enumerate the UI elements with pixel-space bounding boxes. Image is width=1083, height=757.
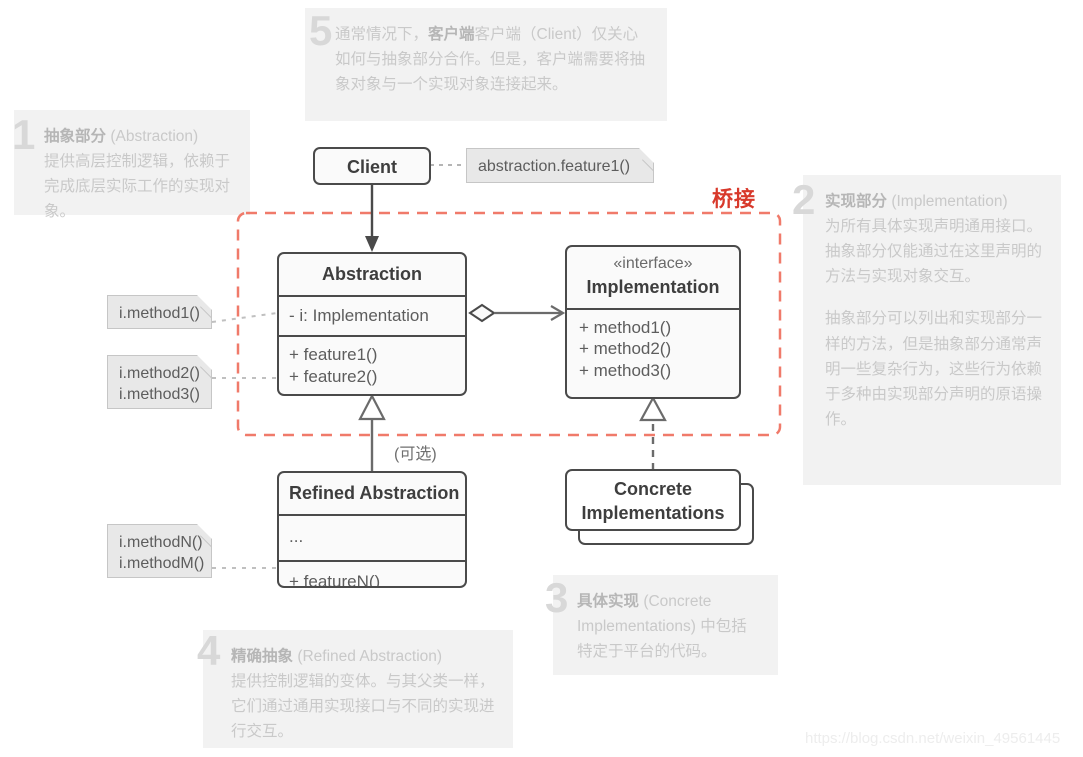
annotation-4-body: 提供控制逻辑的变体。与其父类一样，它们通过通用实现接口与不同的实现进行交互。 <box>231 673 495 740</box>
annotation-5-strong: 客户端 <box>428 26 475 43</box>
class-name-client: Client <box>315 149 429 185</box>
class-box-concrete-implementations[interactable]: Concrete Implementations <box>565 469 741 531</box>
annotation-text-4: 精确抽象 (Refined Abstraction) 提供控制逻辑的变体。与其父… <box>231 644 497 744</box>
realization-triangle-implementation <box>641 398 665 420</box>
annotation-1-body: 提供高层控制逻辑，依赖于完成底层实际工作的实现对象。 <box>44 153 230 220</box>
annotation-1-title-en: (Abstraction) <box>110 128 198 145</box>
annotation-panel-2: 2 实现部分 (Implementation) 为所有具体实现声明通用接口。抽象… <box>803 175 1061 485</box>
sticky-methodN-text: i.methodN() <box>119 532 200 553</box>
bridge-pattern-diagram: 5 通常情况下，客户端客户端（Client）仅关心如何与抽象部分合作。但是，客户… <box>0 0 1083 757</box>
annotation-text-2b: 抽象部分可以列出和实现部分一样的方法，但是抽象部分通常声明一些复杂行为，这些行为… <box>825 306 1045 432</box>
class-method-refined-0: + featureN() <box>279 560 465 588</box>
sticky-method3-text: i.method3() <box>119 384 200 405</box>
annotation-2-title-en: (Implementation) <box>891 193 1007 210</box>
watermark: https://blog.csdn.net/weixin_49561445 <box>805 730 1060 747</box>
class-name-concrete-line1: Concrete <box>567 471 739 501</box>
annotation-text-5: 通常情况下，客户端客户端（Client）仅关心如何与抽象部分合作。但是，客户端需… <box>335 22 651 97</box>
sticky-note-client-call: abstraction.feature1() <box>466 148 654 183</box>
annotation-number-4: 4 <box>197 630 220 672</box>
sticky-method1-text: i.method1() <box>119 305 200 322</box>
class-method-implementation-0: + method1() <box>579 317 729 339</box>
optional-label: (可选) <box>394 440 437 464</box>
annotation-text-1: 抽象部分 (Abstraction) 提供高层控制逻辑，依赖于完成底层实际工作的… <box>44 124 234 224</box>
annotation-panel-1: 1 抽象部分 (Abstraction) 提供高层控制逻辑，依赖于完成底层实际工… <box>14 110 250 215</box>
bridge-label: 桥接 <box>712 183 756 213</box>
class-method-implementation-2: + method3() <box>579 360 729 382</box>
annotation-text-3: 具体实现 (Concrete Implementations) 中包括特定于平台… <box>577 589 762 664</box>
class-method-implementation-1: + method2() <box>579 338 729 360</box>
annotation-panel-4: 4 精确抽象 (Refined Abstraction) 提供控制逻辑的变体。与… <box>203 630 513 748</box>
annotation-panel-5: 5 通常情况下，客户端客户端（Client）仅关心如何与抽象部分合作。但是，客户… <box>305 8 667 121</box>
aggregation-diamond <box>470 305 494 321</box>
sticky-note-method23: i.method2() i.method3() <box>107 355 212 409</box>
class-name-abstraction: Abstraction <box>279 254 465 295</box>
annotation-number-1: 1 <box>12 114 35 156</box>
sticky-note-method1: i.method1() <box>107 295 212 329</box>
class-name-implementation: Implementation <box>567 274 739 307</box>
class-box-abstraction[interactable]: Abstraction - i: Implementation + featur… <box>277 252 467 396</box>
class-box-refined-abstraction[interactable]: Refined Abstraction ... + featureN() <box>277 471 467 588</box>
class-name-concrete-line2: Implementations <box>567 501 739 531</box>
annotation-text-2a: 实现部分 (Implementation) 为所有具体实现声明通用接口。抽象部分… <box>825 189 1045 289</box>
class-methods-implementation: + method1() + method2() + method3() <box>567 308 739 390</box>
annotation-4-title-en: (Refined Abstraction) <box>297 648 442 665</box>
class-stereotype-implementation: «interface» <box>567 247 739 274</box>
sticky-methodM-text: i.methodM() <box>119 553 200 574</box>
sticky-client-call-text: abstraction.feature1() <box>478 158 630 175</box>
annotation-1-strong: 抽象部分 <box>44 128 106 145</box>
client-to-abstraction-arrow <box>365 236 379 252</box>
sticky-method1-leader <box>212 313 277 322</box>
class-field-abstraction-0: - i: Implementation <box>279 295 465 335</box>
annotation-5-lead: 通常情况下， <box>335 26 428 43</box>
annotation-panel-3: 3 具体实现 (Concrete Implementations) 中包括特定于… <box>553 575 778 675</box>
class-method-abstraction-1: + feature2() <box>289 366 455 388</box>
class-box-implementation[interactable]: «interface» Implementation + method1() +… <box>565 245 741 399</box>
class-name-refined-abstraction: Refined Abstraction <box>279 473 465 514</box>
aggregation-open-arrow <box>551 306 563 320</box>
sticky-method2-text: i.method2() <box>119 363 200 384</box>
annotation-number-3: 3 <box>545 577 568 619</box>
annotation-number-2: 2 <box>792 179 815 221</box>
annotation-3-strong: 具体实现 <box>577 593 639 610</box>
inheritance-triangle-abstraction <box>360 396 384 419</box>
class-method-abstraction-0: + feature1() <box>289 344 455 366</box>
annotation-4-strong: 精确抽象 <box>231 648 293 665</box>
annotation-2-body: 为所有具体实现声明通用接口。抽象部分仅能通过在这里声明的方法与实现对象交互。 <box>825 218 1042 285</box>
class-field-refined-0: ... <box>279 514 465 560</box>
class-box-client[interactable]: Client <box>313 147 431 185</box>
annotation-number-5: 5 <box>309 10 332 52</box>
sticky-note-methodNM: i.methodN() i.methodM() <box>107 524 212 578</box>
annotation-2-strong: 实现部分 <box>825 193 887 210</box>
class-methods-abstraction: + feature1() + feature2() <box>279 335 465 396</box>
